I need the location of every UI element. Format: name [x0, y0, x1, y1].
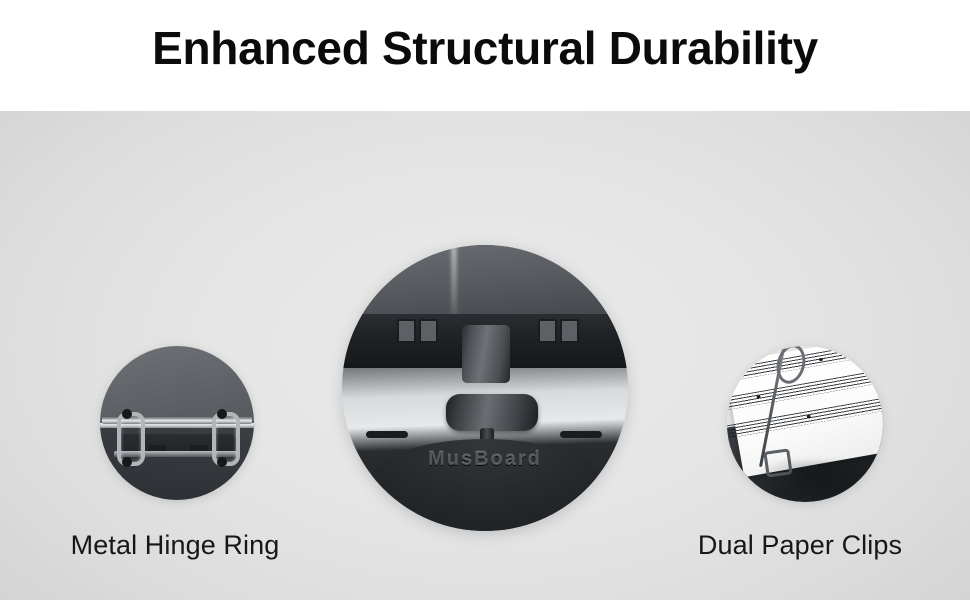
mechanism-slot-4 [560, 319, 579, 343]
hinge-pin-bottom-right [217, 457, 227, 467]
header-band: Enhanced Structural Durability [0, 0, 970, 111]
mechanism-foot-left [366, 431, 408, 438]
mechanism-slot-3 [538, 319, 557, 343]
page-title: Enhanced Structural Durability [0, 20, 970, 76]
mechanism-shaft-collar [462, 325, 510, 383]
mechanism-slot-2 [419, 319, 438, 343]
feature-stage: MusBoard Metal Hinge Ring Dual Paper Cli… [0, 111, 970, 600]
mechanism-slot-1 [397, 319, 416, 343]
product-feature-banner: Enhanced Structural Durability [0, 0, 970, 600]
feature-image-metal-hinge-ring [100, 346, 254, 500]
caption-dual-paper-clips: Dual Paper Clips [630, 530, 970, 561]
caption-metal-hinge-ring: Metal Hinge Ring [0, 530, 350, 561]
feature-image-reinforced-components: MusBoard [342, 245, 628, 531]
hinge-pin-bottom-left [122, 457, 132, 467]
mechanism-foot-right [560, 431, 602, 438]
clip-drop-shadow [755, 461, 874, 502]
feature-image-dual-paper-clips [727, 346, 883, 502]
embossed-brand-label: MusBoard [342, 448, 628, 471]
mechanism-tightening-knob [446, 394, 538, 431]
